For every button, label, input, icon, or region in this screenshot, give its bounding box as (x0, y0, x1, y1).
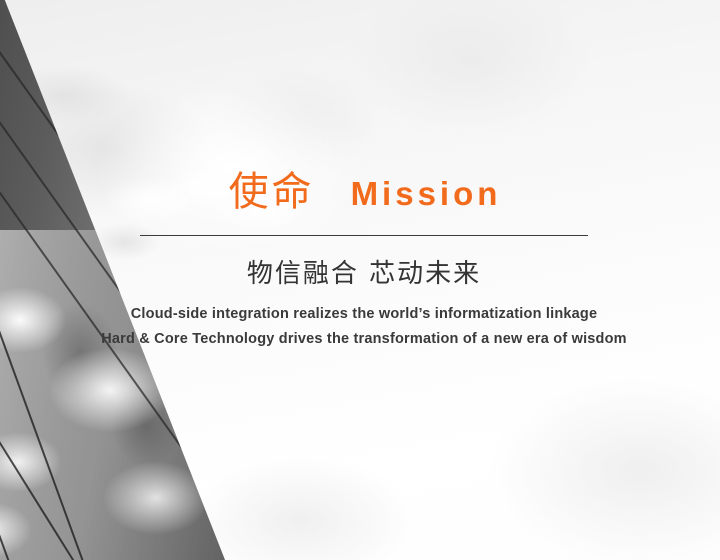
mission-banner: 使命 Mission 物信融合 芯动未来 Cloud-side integrat… (0, 0, 720, 560)
description-line-1: Cloud-side integration realizes the worl… (60, 302, 668, 327)
description-line-2: Hard & Core Technology drives the transf… (60, 327, 668, 352)
title-divider (140, 235, 588, 236)
banner-heading: 使命 Mission (140, 172, 590, 212)
description-block: Cloud-side integration realizes the worl… (60, 302, 668, 352)
page-title-cn: 使命 (229, 172, 315, 212)
page-title-en: Mission (351, 177, 502, 210)
subtitle-cn: 物信融合 芯动未来 (140, 258, 588, 292)
banner-content: 使命 Mission 物信融合 芯动未来 Cloud-side integrat… (0, 0, 720, 560)
